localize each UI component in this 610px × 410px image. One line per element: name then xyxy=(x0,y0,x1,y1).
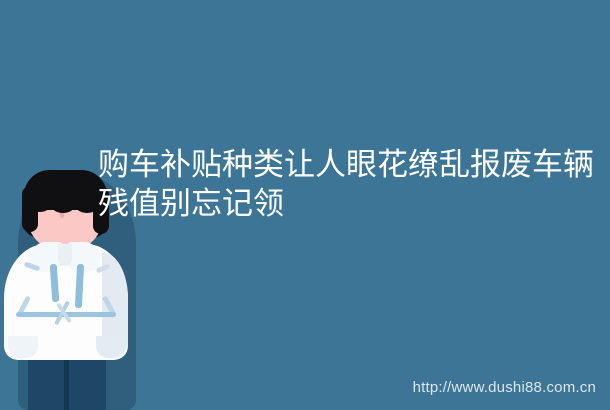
hair-lock xyxy=(50,193,76,213)
hair-sideburn-left xyxy=(22,186,38,232)
headline-title: 购车补贴种类让人眼花缭乱报废车辆残值别忘记领 xyxy=(98,146,594,224)
article-banner: 购车补贴种类让人眼花缭乱报废车辆残值别忘记领 http://www.dushi8… xyxy=(0,0,610,410)
site-url-watermark: http://www.dushi88.com.cn xyxy=(413,379,596,397)
hoodie-cuff-right xyxy=(96,336,126,358)
hoodie-cuff-left xyxy=(8,336,38,358)
hood-neckline xyxy=(58,244,72,266)
pants-leg-gap xyxy=(64,356,69,410)
